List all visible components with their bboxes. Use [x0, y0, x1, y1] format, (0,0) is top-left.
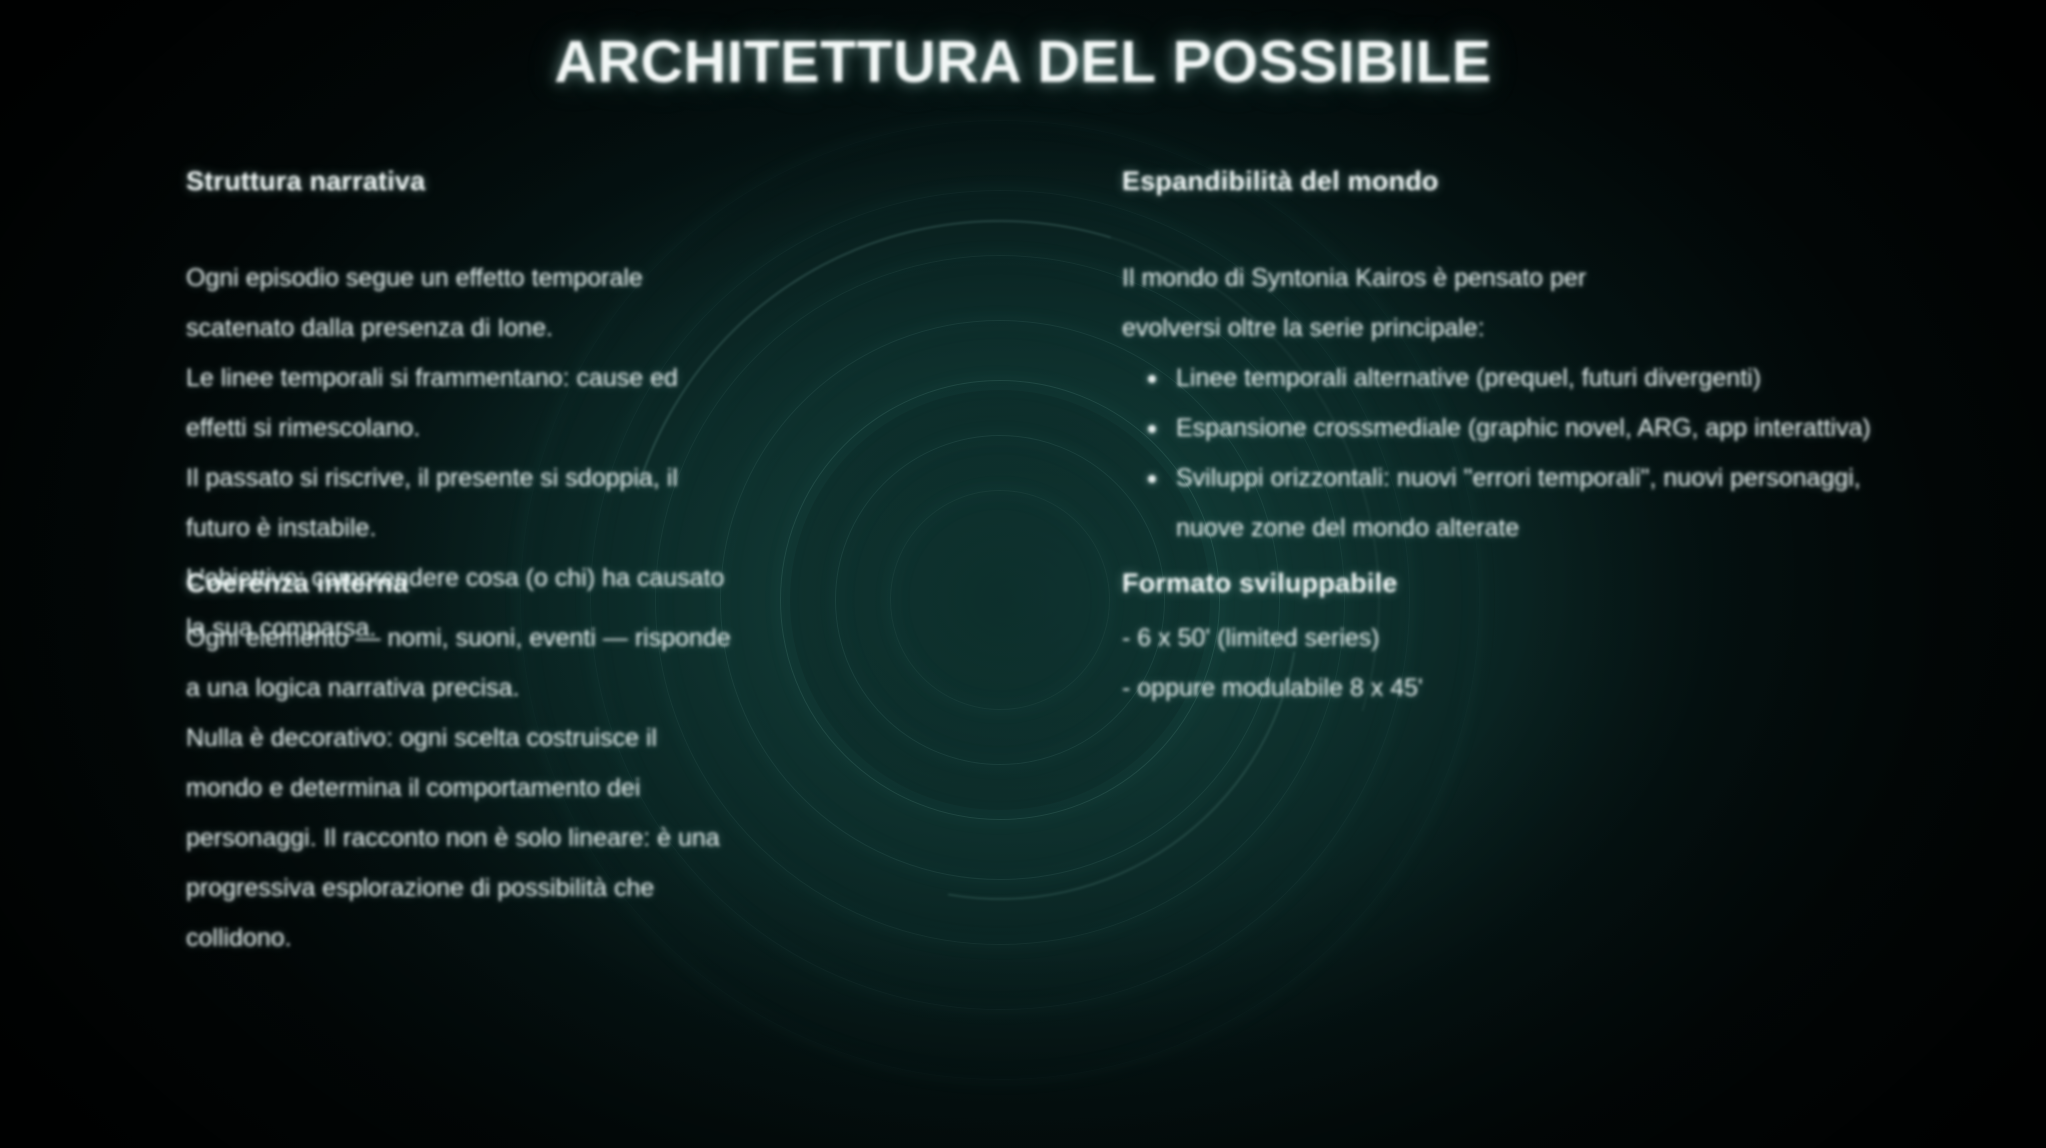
presentation-slide: ARCHITETTURA DEL POSSIBILE Struttura nar…	[0, 0, 2046, 1148]
text-line: Nulla è decorativo: ogni scelta costruis…	[186, 713, 946, 763]
paragraph-coerenza-interna: Ogni elemento — nomi, suoni, eventi — ri…	[186, 613, 946, 963]
left-column: Struttura narrativa Ogni episodio segue …	[186, 166, 946, 653]
right-column: Espandibilità del mondo Il mondo di Synt…	[1122, 166, 1912, 553]
right-section-formato-sviluppabile: Formato sviluppabile - 6 x 50' (limited …	[1122, 568, 1912, 713]
bullet-dot-icon	[1148, 425, 1156, 433]
formato-items: - 6 x 50' (limited series) - oppure modu…	[1122, 613, 1912, 713]
text-line: progressiva esplorazione di possibilità …	[186, 863, 946, 913]
slide-title: ARCHITETTURA DEL POSSIBILE	[0, 28, 2046, 96]
spacer	[1122, 197, 1912, 253]
formato-item: - oppure modulabile 8 x 45'	[1122, 663, 1912, 713]
spacer	[186, 599, 946, 613]
bullet-dot-icon	[1148, 375, 1156, 383]
text-line: collidono.	[186, 913, 946, 963]
right-section-espandibilita-del-mondo: Espandibilità del mondo Il mondo di Synt…	[1122, 166, 1912, 553]
spacer	[1122, 599, 1912, 613]
list-item-label: Sviluppi orizzontali: nuovi "errori temp…	[1176, 464, 1861, 542]
text-line: mondo e determina il comportamento dei	[186, 763, 946, 813]
text-line: Il passato si riscrive, il presente si s…	[186, 453, 946, 503]
heading-coerenza-interna: Coerenza interna	[186, 568, 946, 599]
list-item: Sviluppi orizzontali: nuovi "errori temp…	[1122, 453, 1912, 553]
heading-struttura-narrativa: Struttura narrativa	[186, 166, 946, 197]
list-item: Linee temporali alternative (prequel, fu…	[1122, 353, 1912, 403]
espandibilita-bullet-list: Linee temporali alternative (prequel, fu…	[1122, 353, 1912, 553]
list-item: Espansione crossmediale (graphic novel, …	[1122, 403, 1912, 453]
text-line: Le linee temporali si frammentano: cause…	[186, 353, 946, 403]
text-line: evolversi oltre la serie principale:	[1122, 303, 1912, 353]
list-item-label: Espansione crossmediale (graphic novel, …	[1176, 414, 1871, 442]
text-line: Ogni episodio segue un effetto temporale	[186, 253, 946, 303]
spacer	[186, 197, 946, 253]
left-section-coerenza-interna: Coerenza interna Ogni elemento — nomi, s…	[186, 568, 946, 963]
slide-content: ARCHITETTURA DEL POSSIBILE Struttura nar…	[0, 0, 2046, 1148]
bullet-dot-icon	[1148, 475, 1156, 483]
text-line: scatenato dalla presenza di Ione.	[186, 303, 946, 353]
text-line: Ogni elemento — nomi, suoni, eventi — ri…	[186, 613, 946, 663]
heading-formato-sviluppabile: Formato sviluppabile	[1122, 568, 1912, 599]
paragraph-espandibilita-intro: Il mondo di Syntonia Kairos è pensato pe…	[1122, 253, 1912, 353]
text-line: Il mondo di Syntonia Kairos è pensato pe…	[1122, 253, 1912, 303]
text-line: personaggi. Il racconto non è solo linea…	[186, 813, 946, 863]
heading-espandibilita-del-mondo: Espandibilità del mondo	[1122, 166, 1912, 197]
text-line: a una logica narrativa precisa.	[186, 663, 946, 713]
text-line: effetti si rimescolano.	[186, 403, 946, 453]
list-item-label: Linee temporali alternative (prequel, fu…	[1176, 364, 1761, 392]
text-line: futuro è instabile.	[186, 503, 946, 553]
formato-item: - 6 x 50' (limited series)	[1122, 613, 1912, 663]
